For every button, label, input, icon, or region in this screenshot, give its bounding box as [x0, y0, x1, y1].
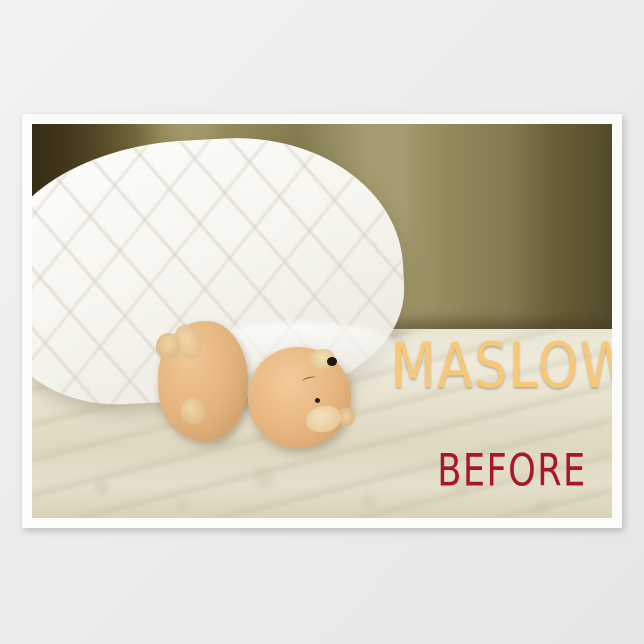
- poster-canvas: MASLOW BEFORE BLOOM every day ESSDACK: [0, 0, 644, 644]
- bear-body: [158, 321, 249, 441]
- bear-paw: [178, 395, 209, 427]
- poster-photograph: MASLOW BEFORE BLOOM every day ESSDACK: [32, 124, 612, 518]
- bear-head: [248, 347, 351, 448]
- bear-closed-eye-icon: [301, 376, 316, 384]
- teddy-bear: [154, 282, 351, 463]
- bear-snout: [304, 402, 344, 435]
- poster-headline: MASLOW: [391, 331, 612, 403]
- poster-line-2: BEFORE: [393, 445, 612, 497]
- bear-eye-icon: [315, 398, 320, 403]
- bear-nose-icon: [327, 357, 336, 366]
